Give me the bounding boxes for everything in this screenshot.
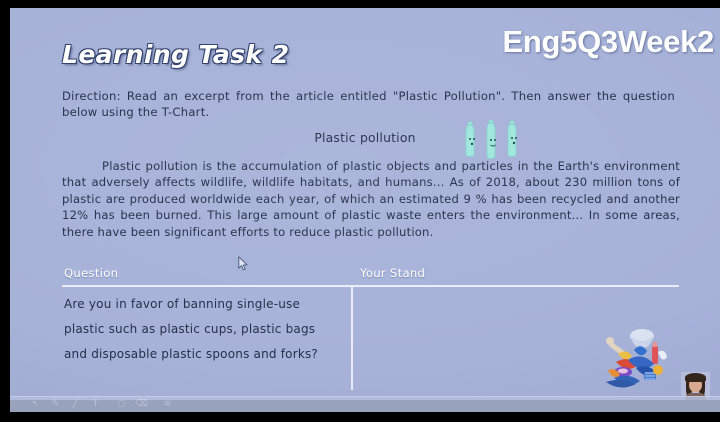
text-tool-icon[interactable]: T — [90, 399, 101, 410]
t-chart: Question Your Stand Are you in favor of … — [62, 266, 679, 392]
direction-text: Direction: Read an excerpt from the arti… — [62, 88, 675, 120]
excerpt-body-text: Plastic pollution is the accumulation of… — [62, 158, 680, 240]
eraser-tool-icon[interactable]: ⌫ — [136, 399, 147, 410]
cursor-tool-icon[interactable]: ↖ — [30, 399, 41, 410]
pen-tool-icon[interactable]: ✎ — [50, 399, 61, 410]
letterbox-bottom — [0, 412, 720, 422]
webcam-hair-top — [685, 373, 706, 382]
highlight-tool-icon[interactable]: ╱ — [70, 399, 81, 410]
plastic-bottles-illustration — [462, 120, 528, 162]
unit-code-label: Eng5Q3Week2 — [502, 24, 714, 60]
excerpt-title: Plastic pollution — [10, 130, 720, 145]
letterbox-top — [0, 0, 720, 8]
t-chart-question-cell: Are you in favor of banning single-use p… — [64, 292, 340, 367]
t-chart-header-row: Question Your Stand — [62, 266, 679, 284]
screen-capture: Learning Task 2 Eng5Q3Week2 Direction: R… — [0, 0, 720, 422]
more-tool-icon[interactable]: ≡ — [162, 399, 173, 410]
letterbox-left — [0, 0, 10, 422]
plastic-waste-illustration — [598, 320, 674, 392]
t-chart-vertical-rule — [351, 287, 353, 390]
t-chart-header-question: Question — [64, 266, 118, 280]
t-chart-horizontal-rule — [62, 285, 679, 287]
presentation-slide: Learning Task 2 Eng5Q3Week2 Direction: R… — [10, 8, 720, 400]
t-chart-header-your-stand: Your Stand — [360, 266, 425, 280]
annotation-toolbar[interactable]: ↖ ✎ ╱ T ○ ⌫ ≡ — [10, 396, 720, 412]
page-title: Learning Task 2 — [62, 40, 289, 69]
shape-tool-icon[interactable]: ○ — [116, 399, 127, 410]
